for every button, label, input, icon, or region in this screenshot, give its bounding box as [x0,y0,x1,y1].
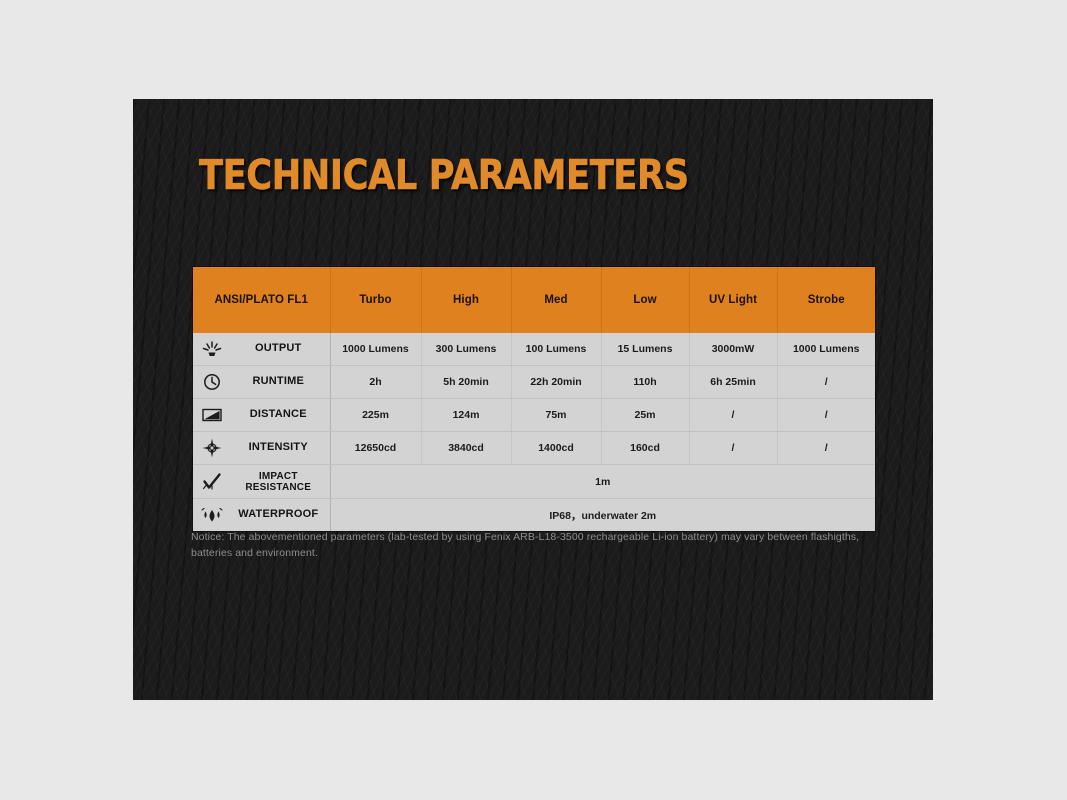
cell-output-low: 15 Lumens [601,333,689,366]
cell-runtime-uv: 6h 25min [689,366,777,399]
cell-impact-resistance-value: 1m [330,465,875,499]
column-header-med: Med [511,267,601,333]
header-row: ANSI/PLATO FL1 Turbo High Med Low UV Lig… [193,267,875,333]
row-label-text: OUTPUT [233,343,324,355]
cell-runtime-strobe: / [777,366,875,399]
cell-distance-uv: / [689,399,777,432]
cell-output-uv: 3000mW [689,333,777,366]
cell-intensity-turbo: 12650cd [330,432,421,465]
cell-output-med: 100 Lumens [511,333,601,366]
table-row: DISTANCE 225m 124m 75m 25m / / [193,399,875,432]
page-root: TECHNICAL PARAMETERS ANSI/PLATO FL1 Turb… [0,0,1067,800]
water-drop-icon [197,504,227,526]
spec-table: ANSI/PLATO FL1 Turbo High Med Low UV Lig… [193,267,875,531]
column-header-turbo: Turbo [330,267,421,333]
table-row: IMPACTRESISTANCE 1m [193,465,875,499]
row-label-intensity: INTENSITY [193,432,330,465]
cell-waterproof-value: IP68，underwater 2m [330,499,875,532]
cell-output-turbo: 1000 Lumens [330,333,421,366]
cell-output-high: 300 Lumens [421,333,511,366]
cell-runtime-turbo: 2h [330,366,421,399]
notice-text: Notice: The abovementioned parameters (l… [191,529,891,561]
row-label-waterproof: WATERPROOF [193,499,330,532]
column-header-low: Low [601,267,689,333]
row-label-distance: DISTANCE [193,399,330,432]
cell-distance-strobe: / [777,399,875,432]
beam-distance-icon [197,404,227,426]
cell-intensity-strobe: / [777,432,875,465]
table-body: OUTPUT 1000 Lumens 300 Lumens 100 Lumens… [193,333,875,531]
row-label-runtime: RUNTIME [193,366,330,399]
cell-distance-med: 75m [511,399,601,432]
table-row: WATERPROOF IP68，underwater 2m [193,499,875,532]
table-row: OUTPUT 1000 Lumens 300 Lumens 100 Lumens… [193,333,875,366]
row-label-text: RUNTIME [233,376,324,388]
cell-intensity-uv: / [689,432,777,465]
cell-distance-turbo: 225m [330,399,421,432]
cell-intensity-low: 160cd [601,432,689,465]
impact-label-line1: IMPACT [259,471,298,482]
cell-intensity-high: 3840cd [421,432,511,465]
row-label-output: OUTPUT [193,333,330,366]
clock-icon [197,371,227,393]
compass-star-icon [197,437,227,459]
cell-output-strobe: 1000 Lumens [777,333,875,366]
cell-runtime-med: 22h 20min [511,366,601,399]
spec-panel: TECHNICAL PARAMETERS ANSI/PLATO FL1 Turb… [133,99,933,700]
cell-intensity-med: 1400cd [511,432,601,465]
column-header-high: High [421,267,511,333]
table-header: ANSI/PLATO FL1 Turbo High Med Low UV Lig… [193,267,875,333]
cell-distance-high: 124m [421,399,511,432]
column-header-uv-light: UV Light [689,267,777,333]
page-title: TECHNICAL PARAMETERS [199,153,689,197]
row-label-text: WATERPROOF [233,509,324,521]
cell-distance-low: 25m [601,399,689,432]
table-row: RUNTIME 2h 5h 20min 22h 20min 110h 6h 25… [193,366,875,399]
row-label-impact-resistance: IMPACTRESISTANCE [193,465,330,499]
impact-label-line2: RESISTANCE [245,482,311,493]
row-label-text: INTENSITY [233,442,324,454]
light-burst-icon [197,338,227,360]
cell-runtime-high: 5h 20min [421,366,511,399]
table-row: INTENSITY 12650cd 3840cd 1400cd 160cd / … [193,432,875,465]
row-label-text: IMPACTRESISTANCE [233,471,324,493]
impact-check-icon [197,471,227,493]
cell-runtime-low: 110h [601,366,689,399]
row-label-text: DISTANCE [233,409,324,421]
column-header-ansi: ANSI/PLATO FL1 [193,267,330,333]
spec-table-wrapper: ANSI/PLATO FL1 Turbo High Med Low UV Lig… [193,267,875,531]
column-header-strobe: Strobe [777,267,875,333]
